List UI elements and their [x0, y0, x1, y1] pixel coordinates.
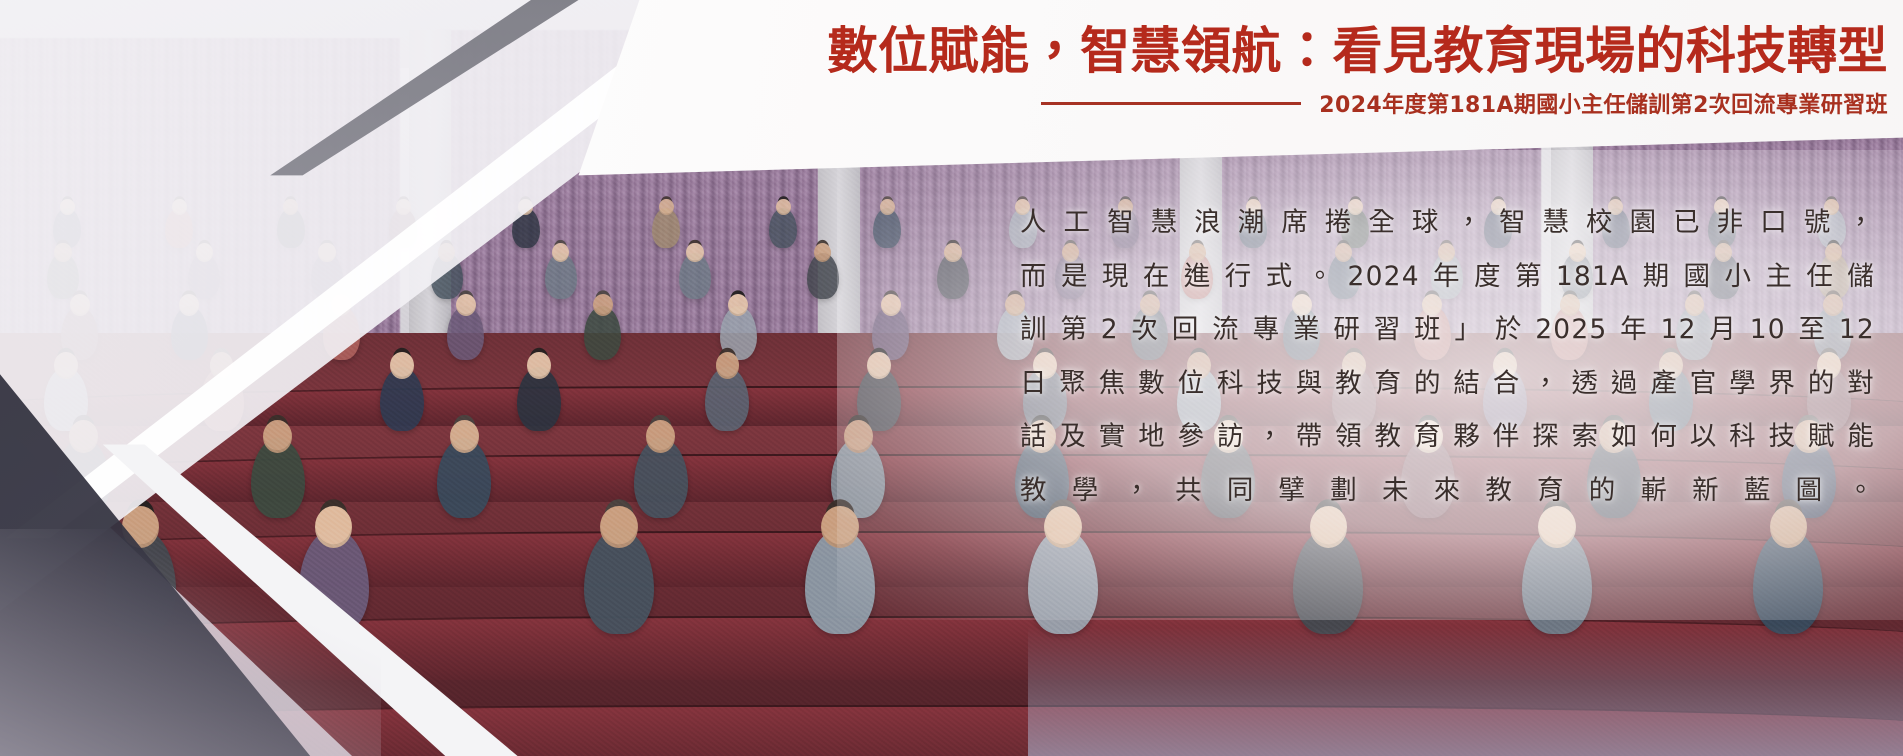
page-title: 數位賦能，智慧領航：看見教育現場的科技轉型: [640, 22, 1888, 81]
title-rule: [1041, 102, 1301, 105]
title-block: 數位賦能，智慧領航：看見教育現場的科技轉型 2024年度第181A期國小主任儲訓…: [640, 22, 1888, 119]
body-paragraph: 人工智慧浪潮席捲全球，智慧校園已非口號，而是現在進行式。2024年度第181A期…: [1020, 196, 1875, 517]
event-banner: 數位賦能，智慧領航：看見教育現場的科技轉型 2024年度第181A期國小主任儲訓…: [0, 0, 1903, 756]
body-line: 而是現在進行式。2024年度第181A期國小主任儲: [1020, 250, 1875, 304]
body-line: 訓第2次回流專業研習班」於2025年12月10至12: [1020, 303, 1875, 357]
body-line: 人工智慧浪潮席捲全球，智慧校園已非口號，: [1020, 196, 1875, 250]
subtitle-row: 2024年度第181A期國小主任儲訓第2次回流專業研習班: [640, 87, 1888, 119]
body-line: 日聚焦數位科技與教育的結合，透過產官學界的對: [1020, 357, 1875, 411]
body-line: 話及實地參訪，帶領教育夥伴探索如何以科技賦能: [1020, 410, 1875, 464]
page-subtitle: 2024年度第181A期國小主任儲訓第2次回流專業研習班: [1319, 87, 1888, 119]
body-line: 教學，共同擘劃未來教育的嶄新藍圖。: [1020, 464, 1875, 518]
